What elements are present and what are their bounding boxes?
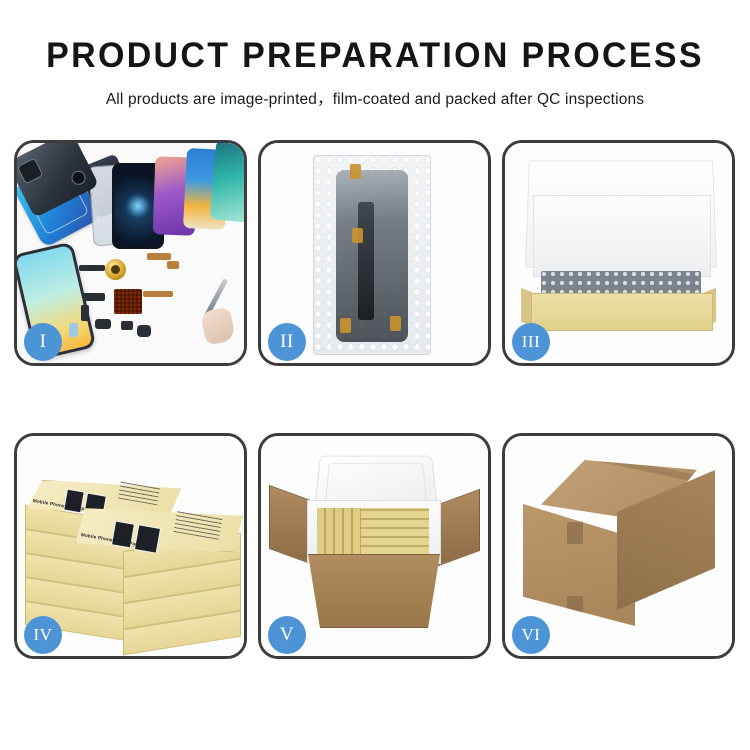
step-badge-4: IV bbox=[24, 616, 62, 654]
step-badge-3: III bbox=[512, 323, 550, 361]
step-panel-4: Mobile Phone Spare Parts Mobile Phone Sp… bbox=[14, 433, 247, 659]
box-stack-icon: Mobile Phone Spare Parts Mobile Phone Sp… bbox=[23, 450, 243, 650]
bubble-wrap-bag-icon bbox=[313, 155, 431, 355]
part-chip2-icon bbox=[121, 321, 133, 330]
connector-tab-icon bbox=[350, 164, 361, 179]
part-bar-icon bbox=[79, 265, 105, 271]
step-badge-1: I bbox=[24, 323, 62, 361]
step-panel-2: II bbox=[258, 140, 491, 366]
step-panel-1: I bbox=[14, 140, 247, 366]
step-badge-5: V bbox=[268, 616, 306, 654]
foam-sheet-icon bbox=[533, 195, 711, 277]
process-steps-grid: I II bbox=[14, 140, 736, 659]
flex-connector-icon bbox=[167, 261, 179, 269]
step-badge-6: VI bbox=[512, 616, 550, 654]
part-connector-icon bbox=[83, 293, 105, 301]
shipping-carton-icon bbox=[523, 460, 715, 630]
product-preparation-infographic: PRODUCT PREPARATION PROCESS All products… bbox=[0, 0, 750, 750]
header: PRODUCT PREPARATION PROCESS All products… bbox=[0, 0, 750, 109]
part-chip-icon bbox=[95, 319, 111, 329]
speaker-coil-icon bbox=[105, 259, 126, 280]
connector-tab2-icon bbox=[352, 228, 363, 243]
connector-tab4-icon bbox=[390, 316, 401, 331]
part-flexcable-icon bbox=[81, 305, 89, 321]
packed-boxes-icon bbox=[317, 508, 429, 554]
chip-grid-icon bbox=[114, 289, 142, 314]
step-badge-2: II bbox=[268, 323, 306, 361]
step-panel-5: V bbox=[258, 433, 491, 659]
phone-teal-icon bbox=[210, 143, 244, 223]
flex-cable-gold2-icon bbox=[143, 291, 173, 297]
connector-tab3-icon bbox=[340, 318, 351, 333]
step-panel-3: III bbox=[502, 140, 735, 366]
part-lens-icon bbox=[69, 323, 78, 337]
carton-front-icon bbox=[299, 554, 449, 628]
flex-cable-gold-icon bbox=[147, 253, 171, 260]
kraft-box-front-icon bbox=[531, 293, 713, 331]
part-speaker-icon bbox=[137, 325, 151, 337]
wrapped-flex-strip-icon bbox=[358, 202, 374, 320]
page-subtitle: All products are image-printed，film-coat… bbox=[0, 87, 750, 109]
step-panel-6: VI bbox=[502, 433, 735, 659]
page-title: PRODUCT PREPARATION PROCESS bbox=[11, 38, 739, 73]
